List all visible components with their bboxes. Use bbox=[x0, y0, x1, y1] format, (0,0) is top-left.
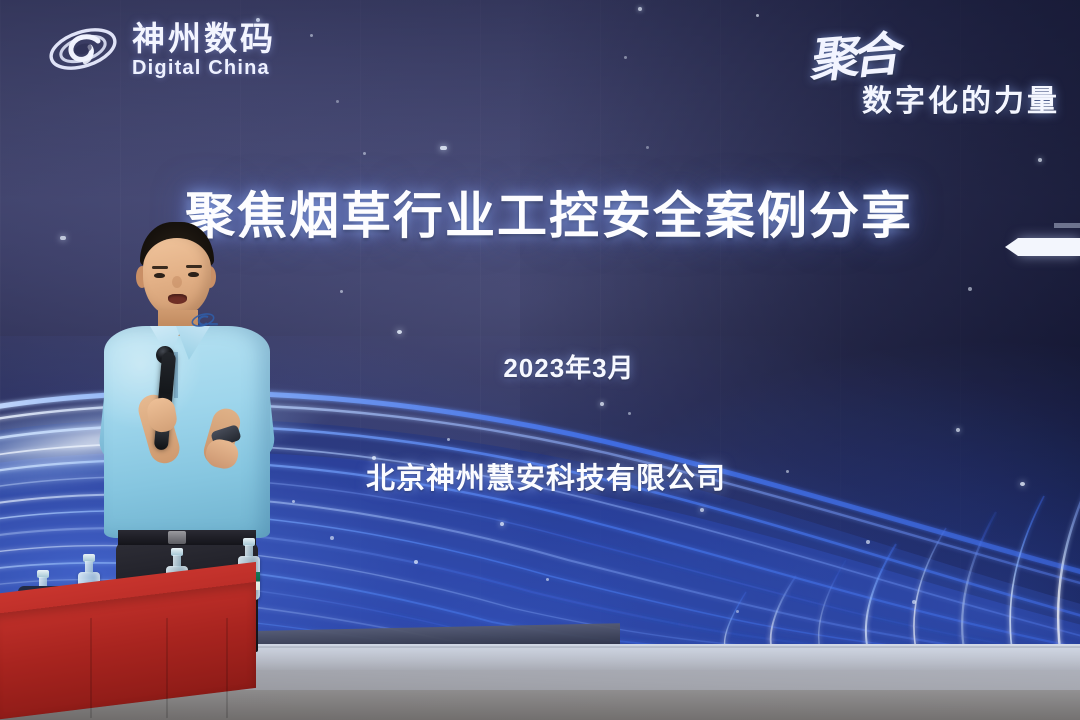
panel-table bbox=[0, 588, 260, 720]
presenter-belt bbox=[118, 530, 256, 545]
table-cloth-fold bbox=[166, 618, 168, 718]
polo-chest-logo bbox=[190, 310, 220, 332]
presenter-nose bbox=[172, 276, 182, 288]
bottle-neck bbox=[85, 561, 93, 573]
digital-china-spiral-logo bbox=[46, 16, 120, 84]
table-cloth-fold bbox=[226, 618, 228, 718]
brand-name-en: Digital China bbox=[132, 57, 276, 79]
presenter-belt-buckle bbox=[168, 531, 186, 544]
screenshot-root: 神州数码 Digital China 聚合 数字化的力量 聚焦烟草行业工控安全案… bbox=[0, 0, 1080, 720]
bottle-neck bbox=[173, 555, 181, 567]
presenter-polo-shirt bbox=[104, 326, 270, 538]
presenter-left-brow bbox=[152, 266, 168, 269]
presenter-right-brow bbox=[186, 265, 202, 268]
event-slogan-logo: 聚合 数字化的力量 bbox=[796, 14, 1062, 118]
slogan-tagline: 数字化的力量 bbox=[862, 76, 1060, 120]
bottle-neck bbox=[245, 545, 253, 557]
presenter-right-eye bbox=[188, 272, 199, 277]
presenter-left-eye bbox=[154, 273, 165, 278]
digital-china-logo: 神州数码 Digital China bbox=[46, 16, 276, 84]
presenter-mouth bbox=[168, 294, 187, 304]
table-cloth-fold bbox=[90, 618, 92, 718]
brand-name-cn: 神州数码 bbox=[132, 21, 276, 57]
